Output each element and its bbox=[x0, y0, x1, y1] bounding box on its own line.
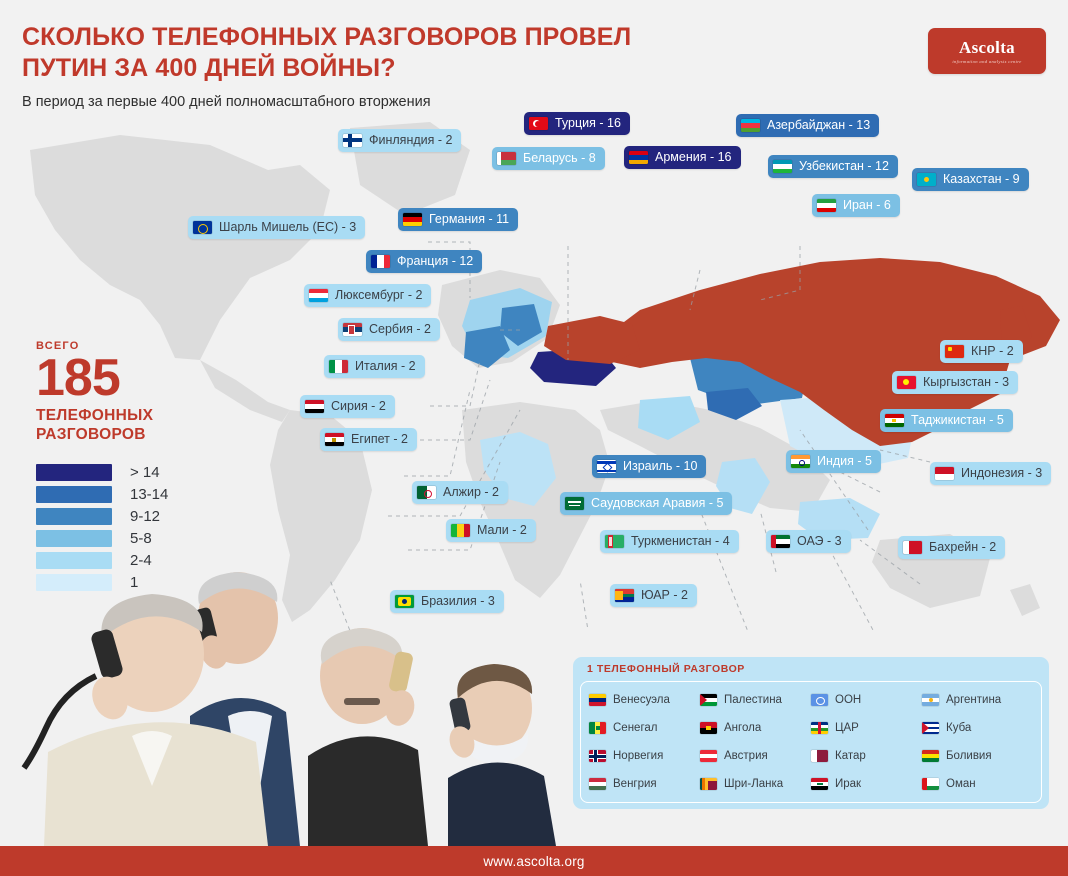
map-label-armenia[interactable]: Армения - 16 bbox=[624, 146, 741, 169]
legend-item-un[interactable]: ООН bbox=[811, 686, 922, 714]
map-label-text: Израиль - 10 bbox=[623, 460, 697, 473]
legend-item-label: Ангола bbox=[724, 722, 761, 734]
flag-icon-ps bbox=[700, 694, 717, 706]
legend-item-norway[interactable]: Норвегия bbox=[589, 742, 700, 770]
map-label-algeria[interactable]: Алжир - 2 bbox=[412, 481, 508, 504]
scale-row-3: 9-12 bbox=[36, 506, 216, 526]
map-label-text: Армения - 16 bbox=[655, 151, 732, 164]
page-title: СКОЛЬКО ТЕЛЕФОННЫХ РАЗГОВОРОВ ПРОВЕЛ ПУТ… bbox=[22, 22, 712, 83]
leaders-photo-svg bbox=[0, 556, 560, 846]
map-label-text: Алжир - 2 bbox=[443, 486, 499, 499]
legend-item-label: Австрия bbox=[724, 750, 768, 762]
legend-item-senegal[interactable]: Сенегал bbox=[589, 714, 700, 742]
scale-label: 13-14 bbox=[130, 486, 168, 503]
legend-item-qatar[interactable]: Катар bbox=[811, 742, 922, 770]
flag-icon-sa bbox=[565, 497, 584, 510]
legend-item-label: Венесуэла bbox=[613, 694, 670, 706]
map-label-indonesia[interactable]: Индонезия - 3 bbox=[930, 462, 1051, 485]
map-label-germany[interactable]: Германия - 11 bbox=[398, 208, 518, 231]
map-label-italy[interactable]: Италия - 2 bbox=[324, 355, 425, 378]
flag-icon-fi bbox=[343, 134, 362, 147]
flag-icon-tj bbox=[885, 414, 904, 427]
flag-icon-qa bbox=[811, 750, 828, 762]
map-label-iran[interactable]: Иран - 6 bbox=[812, 194, 900, 217]
flag-icon-il bbox=[597, 460, 616, 473]
map-label-syria[interactable]: Сирия - 2 bbox=[300, 395, 395, 418]
map-label-text: ЮАР - 2 bbox=[641, 589, 688, 602]
flag-icon-ve bbox=[589, 694, 606, 706]
flag-icon-za bbox=[615, 589, 634, 602]
map-label-charles-michel[interactable]: Шарль Мишель (ЕС) - 3 bbox=[188, 216, 365, 239]
map-label-text: Финляндия - 2 bbox=[369, 134, 452, 147]
flag-icon-it bbox=[329, 360, 348, 373]
map-label-kyrgyzstan[interactable]: Кыргызстан - 3 bbox=[892, 371, 1018, 394]
flag-icon-cf bbox=[811, 722, 828, 734]
leaders-photo-collage bbox=[0, 556, 560, 846]
scale-label: > 14 bbox=[130, 464, 160, 481]
scale-swatch bbox=[36, 486, 112, 503]
scale-swatch bbox=[36, 508, 112, 525]
flag-icon-sn bbox=[589, 722, 606, 734]
flag-icon-no bbox=[589, 750, 606, 762]
legend-item-label: Палестина bbox=[724, 694, 782, 706]
flag-icon-fr bbox=[371, 255, 390, 268]
single-call-legend-grid: ВенесуэлаПалестинаООНАргентинаСенегалАнг… bbox=[580, 681, 1042, 803]
flag-icon-un bbox=[811, 694, 828, 706]
ascolta-logo[interactable]: Ascolta information and analysis centre bbox=[928, 28, 1046, 74]
flag-icon-az bbox=[741, 119, 760, 132]
flag-icon-kz bbox=[917, 173, 936, 186]
legend-item-label: Оман bbox=[946, 778, 976, 790]
flag-icon-id bbox=[935, 467, 954, 480]
flag-icon-rs bbox=[343, 323, 362, 336]
footer-url[interactable]: www.ascolta.org bbox=[483, 854, 584, 869]
legend-item-label: Боливия bbox=[946, 750, 992, 762]
legend-item-label: Куба bbox=[946, 722, 971, 734]
map-label-tajikistan[interactable]: Таджикистан - 5 bbox=[880, 409, 1013, 432]
legend-item-label: Аргентина bbox=[946, 694, 1001, 706]
legend-item-iraq[interactable]: Ирак bbox=[811, 770, 922, 798]
photo-lukashenko bbox=[308, 628, 428, 846]
legend-item-label: ЦАР bbox=[835, 722, 859, 734]
map-label-text: Туркменистан - 4 bbox=[631, 535, 730, 548]
flag-icon-dz bbox=[417, 486, 436, 499]
flag-icon-eu bbox=[193, 221, 212, 234]
page-subtitle: В период за первые 400 дней полномасштаб… bbox=[22, 92, 442, 113]
map-label-text: Германия - 11 bbox=[429, 213, 509, 226]
legend-item-label: ООН bbox=[835, 694, 861, 706]
new-zealand bbox=[1010, 584, 1040, 616]
scale-label: 5-8 bbox=[130, 530, 152, 547]
legend-item-label: Венгрия bbox=[613, 778, 657, 790]
legend-item-oman[interactable]: Оман bbox=[922, 770, 1033, 798]
legend-item-hungary[interactable]: Венгрия bbox=[589, 770, 700, 798]
legend-item-label: Норвегия bbox=[613, 750, 663, 762]
scale-row-1: > 14 bbox=[36, 462, 216, 482]
map-label-text: КНР - 2 bbox=[971, 345, 1014, 358]
map-label-text: Франция - 12 bbox=[397, 255, 473, 268]
flag-icon-ir bbox=[817, 199, 836, 212]
flag-icon-kg bbox=[897, 376, 916, 389]
legend-item-palestine[interactable]: Палестина bbox=[700, 686, 811, 714]
map-label-turkmenistan[interactable]: Туркменистан - 4 bbox=[600, 530, 739, 553]
map-label-serbia[interactable]: Сербия - 2 bbox=[338, 318, 440, 341]
map-label-text: Казахстан - 9 bbox=[943, 173, 1020, 186]
map-label-text: Люксембург - 2 bbox=[335, 289, 422, 302]
map-label-bahrain[interactable]: Бахрейн - 2 bbox=[898, 536, 1005, 559]
map-label-uzbekistan[interactable]: Узбекистан - 12 bbox=[768, 155, 898, 178]
logo-name: Ascolta bbox=[959, 39, 1015, 56]
map-label-text: Италия - 2 bbox=[355, 360, 416, 373]
flag-icon-lk bbox=[700, 778, 717, 790]
map-label-text: Узбекистан - 12 bbox=[799, 160, 889, 173]
map-label-france[interactable]: Франция - 12 bbox=[366, 250, 482, 273]
flag-icon-hu bbox=[589, 778, 606, 790]
map-label-text: Иран - 6 bbox=[843, 199, 891, 212]
flag-icon-bo bbox=[922, 750, 939, 762]
flag-icon-sy bbox=[305, 400, 324, 413]
map-label-india[interactable]: Индия - 5 bbox=[786, 450, 881, 473]
total-caption: ТЕЛЕФОННЫХ РАЗГОВОРОВ bbox=[36, 407, 216, 444]
legend-item-cuba[interactable]: Куба bbox=[922, 714, 1033, 742]
map-label-text: Азербайджан - 13 bbox=[767, 119, 870, 132]
map-label-text: Мали - 2 bbox=[477, 524, 527, 537]
map-label-uae[interactable]: ОАЭ - 3 bbox=[766, 530, 851, 553]
map-label-saudi-arabia[interactable]: Саудовская Аравия - 5 bbox=[560, 492, 732, 515]
flag-icon-eg bbox=[325, 433, 344, 446]
scale-swatch bbox=[36, 530, 112, 547]
map-label-finland[interactable]: Финляндия - 2 bbox=[338, 129, 461, 152]
map-label-belarus[interactable]: Беларусь - 8 bbox=[492, 147, 605, 170]
map-label-text: Сирия - 2 bbox=[331, 400, 386, 413]
map-label-text: ОАЭ - 3 bbox=[797, 535, 842, 548]
map-label-text: Бахрейн - 2 bbox=[929, 541, 996, 554]
map-label-text: Индия - 5 bbox=[817, 455, 872, 468]
legend-item-label: Сенегал bbox=[613, 722, 658, 734]
flag-icon-at bbox=[700, 750, 717, 762]
map-label-luxembourg[interactable]: Люксембург - 2 bbox=[304, 284, 431, 307]
legend-item-srilanka[interactable]: Шри-Ланка bbox=[700, 770, 811, 798]
map-label-south-africa[interactable]: ЮАР - 2 bbox=[610, 584, 697, 607]
flag-icon-in bbox=[791, 455, 810, 468]
map-label-azerbaijan[interactable]: Азербайджан - 13 bbox=[736, 114, 879, 137]
map-label-text: Кыргызстан - 3 bbox=[923, 376, 1009, 389]
total-number: 185 bbox=[36, 354, 216, 403]
flag-icon-ae bbox=[771, 535, 790, 548]
flag-icon-iq bbox=[811, 778, 828, 790]
legend-item-austria[interactable]: Австрия bbox=[700, 742, 811, 770]
flag-icon-de bbox=[403, 213, 422, 226]
flag-icon-tr bbox=[529, 117, 548, 130]
legend-item-angola[interactable]: Ангола bbox=[700, 714, 811, 742]
logo-tagline: information and analysis centre bbox=[952, 59, 1021, 64]
flag-icon-bh bbox=[903, 541, 922, 554]
flag-icon-ml bbox=[451, 524, 470, 537]
map-label-text: Шарль Мишель (ЕС) - 3 bbox=[219, 221, 356, 234]
flag-icon-lu bbox=[309, 289, 328, 302]
map-label-kazakhstan[interactable]: Казахстан - 9 bbox=[912, 168, 1029, 191]
single-call-legend-title: 1 ТЕЛЕФОННЫЙ РАЗГОВОР bbox=[587, 663, 745, 675]
total-stats: ВСЕГО 185 ТЕЛЕФОННЫХ РАЗГОВОРОВ bbox=[36, 340, 216, 444]
map-label-turkey[interactable]: Турция - 16 bbox=[524, 112, 630, 135]
flag-icon-om bbox=[922, 778, 939, 790]
map-label-text: Египет - 2 bbox=[351, 433, 408, 446]
photo-macron bbox=[446, 664, 556, 846]
map-label-china[interactable]: КНР - 2 bbox=[940, 340, 1023, 363]
map-label-text: Саудовская Аравия - 5 bbox=[591, 497, 723, 510]
north-america bbox=[30, 135, 330, 360]
scale-swatch bbox=[36, 464, 112, 481]
flag-icon-am bbox=[629, 151, 648, 164]
scale-row-2: 13-14 bbox=[36, 484, 216, 504]
map-label-text: Беларусь - 8 bbox=[523, 152, 596, 165]
flag-icon-by bbox=[497, 152, 516, 165]
legend-item-label: Шри-Ланка bbox=[724, 778, 783, 790]
legend-item-argentina[interactable]: Аргентина bbox=[922, 686, 1033, 714]
map-label-text: Таджикистан - 5 bbox=[911, 414, 1004, 427]
map-label-mali[interactable]: Мали - 2 bbox=[446, 519, 536, 542]
scale-label: 9-12 bbox=[130, 508, 160, 525]
map-label-egypt[interactable]: Египет - 2 bbox=[320, 428, 417, 451]
infographic-canvas: СКОЛЬКО ТЕЛЕФОННЫХ РАЗГОВОРОВ ПРОВЕЛ ПУТ… bbox=[0, 0, 1068, 876]
flag-icon-ao bbox=[700, 722, 717, 734]
map-label-text: Сербия - 2 bbox=[369, 323, 431, 336]
flag-icon-cu bbox=[922, 722, 939, 734]
map-label-text: Турция - 16 bbox=[555, 117, 621, 130]
flag-icon-ar bbox=[922, 694, 939, 706]
map-label-text: Индонезия - 3 bbox=[961, 467, 1042, 480]
legend-item-bolivia[interactable]: Боливия bbox=[922, 742, 1033, 770]
flag-icon-uz bbox=[773, 160, 792, 173]
legend-item-venezuela[interactable]: Венесуэла bbox=[589, 686, 700, 714]
map-label-israel[interactable]: Израиль - 10 bbox=[592, 455, 706, 478]
flag-icon-tm bbox=[605, 535, 624, 548]
legend-item-label: Ирак bbox=[835, 778, 861, 790]
footer-bar: www.ascolta.org bbox=[0, 846, 1068, 876]
scale-row-4: 5-8 bbox=[36, 528, 216, 548]
legend-item-car[interactable]: ЦАР bbox=[811, 714, 922, 742]
legend-item-label: Катар bbox=[835, 750, 866, 762]
flag-icon-cn bbox=[945, 345, 964, 358]
